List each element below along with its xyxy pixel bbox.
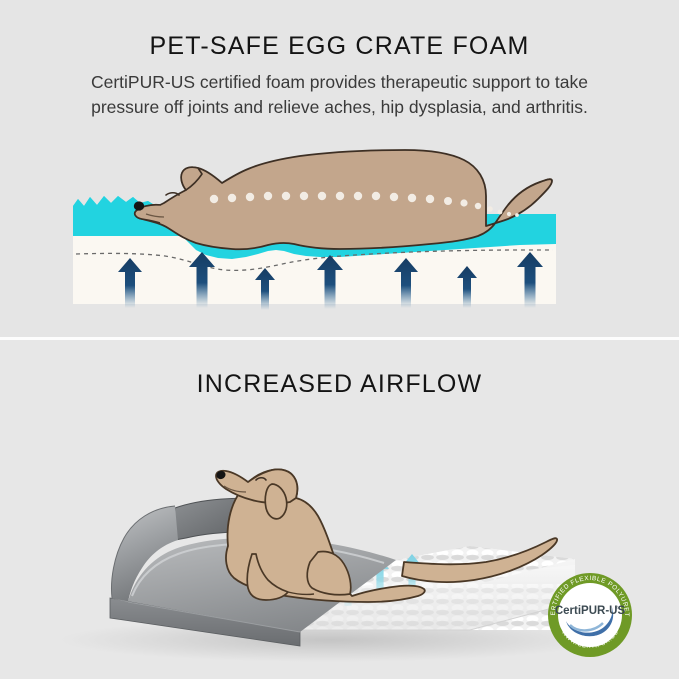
panel-pet-safe-egg-crate-foam: PET-SAFE EGG CRATE FOAM CertiPUR-US cert… [0, 0, 679, 337]
certipur-us-seal: CONTAINS CERTIFIED FLEXIBLE POLYURETHANE… [548, 573, 632, 657]
dog-nose [134, 201, 144, 210]
panel-increased-airflow: INCREASED AIRFLOW [0, 340, 679, 679]
egg-crate-cross-section-illustration [0, 0, 679, 337]
airflow-bed-illustration: CONTAINS CERTIFIED FLEXIBLE POLYURETHANE… [0, 340, 679, 679]
